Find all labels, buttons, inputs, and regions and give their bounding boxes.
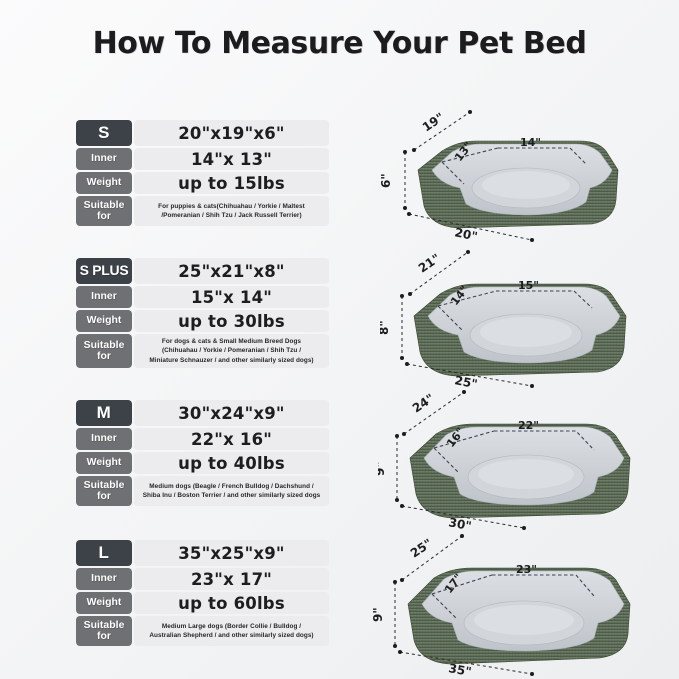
suitable-for-value: For dogs & cats & Small Medium Breed Dog… xyxy=(134,334,329,368)
table-row-inner: Inner 22"x 16" xyxy=(76,428,329,450)
suitable-line: For puppies & cats(Chihuahau / Yorkie / … xyxy=(158,203,305,210)
size-dimensions-value: 30"x24"x9" xyxy=(134,400,329,426)
page-title: How To Measure Your Pet Bed xyxy=(0,26,679,61)
outer-height-label: 6" xyxy=(380,173,393,188)
bed-cushion-highlight xyxy=(482,171,570,199)
outer-depth-label: 21" xyxy=(416,251,443,275)
inner-label: Inner xyxy=(76,286,132,308)
bed-drawing: 14" 15" 21" 8" 25" xyxy=(380,238,670,388)
weight-value: up to 40lbs xyxy=(134,452,329,474)
suitable-for-value: Medium dogs (Beagle / French Bulldog / D… xyxy=(134,476,329,506)
suitable-line: Miniature Schnauzer / and other similarl… xyxy=(149,357,313,364)
bed-illustration-s: 13" 14" 19" 6" 20" xyxy=(380,96,670,246)
table-row-inner: Inner 14"x 13" xyxy=(76,148,329,170)
inner-label: Inner xyxy=(76,568,132,590)
size-table-s: S 20"x19"x6" Inner 14"x 13" Weight up to… xyxy=(76,120,329,228)
size-dimensions-value: 35"x25"x9" xyxy=(134,540,329,566)
weight-label: Weight xyxy=(76,172,132,194)
table-row-weight: Weight up to 60lbs xyxy=(76,592,329,614)
table-row-inner: Inner 23"x 17" xyxy=(76,568,329,590)
suitable-line: Medium dogs (Beagle / French Bulldog / D… xyxy=(149,483,313,490)
dim-endpoint xyxy=(400,578,404,582)
outer-height-label: 9" xyxy=(378,461,387,476)
inner-width-label: 14" xyxy=(520,136,541,149)
size-name-label: L xyxy=(76,540,132,566)
inner-label: Inner xyxy=(76,428,132,450)
bed-illustration-l: 17" 23" 25" 9" 35" xyxy=(372,522,672,677)
dim-endpoint xyxy=(530,672,534,676)
dim-endpoint xyxy=(466,250,470,254)
bed-cushion-highlight xyxy=(474,605,574,635)
weight-label: Weight xyxy=(76,310,132,332)
table-row-weight: Weight up to 30lbs xyxy=(76,310,329,332)
suitable-line: Shiba Inu / Boston Terrier / and other s… xyxy=(143,492,321,499)
suitable-line: For dogs & cats & Small Medium Breed Dog… xyxy=(162,338,301,345)
dim-endpoint xyxy=(400,294,404,298)
dim-endpoint xyxy=(393,580,397,584)
size-dimensions-value: 25"x21"x8" xyxy=(134,258,329,284)
inner-width-label: 22" xyxy=(518,419,539,432)
bed-cushion-highlight xyxy=(480,317,572,347)
table-row-weight: Weight up to 15lbs xyxy=(76,172,329,194)
weight-value: up to 30lbs xyxy=(134,310,329,332)
outer-height-label: 9" xyxy=(372,607,385,622)
table-row-header: M 30"x24"x9" xyxy=(76,400,329,426)
table-row-header: S PLUS 25"x21"x8" xyxy=(76,258,329,284)
bed-illustration-s-plus: 14" 15" 21" 8" 25" xyxy=(380,238,670,388)
size-table-s-plus: S PLUS 25"x21"x8" Inner 15"x 14" Weight … xyxy=(76,258,329,370)
suitable-for-label: Suitable for xyxy=(76,334,132,368)
table-row-suitable: Suitable for For dogs & cats & Small Med… xyxy=(76,334,329,368)
dim-endpoint xyxy=(403,150,407,154)
inner-width-label: 23" xyxy=(516,563,537,576)
dim-endpoint xyxy=(412,148,416,152)
outer-height-label: 8" xyxy=(380,320,391,335)
size-table-m: M 30"x24"x9" Inner 22"x 16" Weight up to… xyxy=(76,400,329,508)
weight-value: up to 60lbs xyxy=(134,592,329,614)
weight-value: up to 15lbs xyxy=(134,172,329,194)
dim-endpoint xyxy=(395,498,399,502)
table-row-inner: Inner 15"x 14" xyxy=(76,286,329,308)
suitable-for-label: Suitable for xyxy=(76,196,132,226)
outer-depth-label: 24" xyxy=(410,391,437,415)
bed-drawing: 16" 22" 24" 9" 30" xyxy=(378,378,673,533)
suitable-for-value: Medium Large dogs (Border Collie / Bulld… xyxy=(134,616,329,646)
dim-endpoint xyxy=(400,504,404,508)
suitable-for-value: For puppies & cats(Chihuahau / Yorkie / … xyxy=(134,196,329,226)
table-row-header: L 35"x25"x9" xyxy=(76,540,329,566)
bed-illustration-m: 16" 22" 24" 9" 30" xyxy=(378,378,673,533)
size-name-label: S PLUS xyxy=(76,258,132,284)
table-row-suitable: Suitable for Medium dogs (Beagle / Frenc… xyxy=(76,476,329,506)
size-dimensions-value: 20"x19"x6" xyxy=(134,120,329,146)
dim-endpoint xyxy=(407,212,411,216)
bed-drawing: 13" 14" 19" 6" 20" xyxy=(380,96,670,246)
table-row-weight: Weight up to 40lbs xyxy=(76,452,329,474)
dim-endpoint xyxy=(460,534,464,538)
inner-label: Inner xyxy=(76,148,132,170)
suitable-line: Australian Shepherd / and other similarl… xyxy=(149,632,313,639)
inner-width-label: 15" xyxy=(518,279,539,292)
outer-depth-label: 19" xyxy=(420,110,447,134)
weight-label: Weight xyxy=(76,452,132,474)
weight-label: Weight xyxy=(76,592,132,614)
infographic-page: How To Measure Your Pet Bed S 20"x19"x6"… xyxy=(0,0,679,679)
suitable-for-label: Suitable for xyxy=(76,476,132,506)
table-row-suitable: Suitable for For puppies & cats(Chihuaha… xyxy=(76,196,329,226)
suitable-line: /Pomeranian / Shih Tzu / Jack Russell Te… xyxy=(161,212,301,219)
bed-drawing: 17" 23" 25" 9" 35" xyxy=(372,522,672,677)
outer-depth-label: 25" xyxy=(408,536,435,560)
dim-endpoint xyxy=(400,356,404,360)
suitable-for-label: Suitable for xyxy=(76,616,132,646)
inner-value: 22"x 16" xyxy=(134,428,329,450)
outer-width-label: 35" xyxy=(447,661,472,677)
size-name-label: S xyxy=(76,120,132,146)
inner-value: 15"x 14" xyxy=(134,286,329,308)
suitable-line: (Chihuahau / Yorkie / Pomeranian / Shih … xyxy=(162,347,301,354)
inner-value: 23"x 17" xyxy=(134,568,329,590)
dim-endpoint xyxy=(468,110,472,114)
dim-endpoint xyxy=(393,644,397,648)
bed-cushion-highlight xyxy=(478,459,574,489)
dim-endpoint xyxy=(408,292,412,296)
table-row-header: S 20"x19"x6" xyxy=(76,120,329,146)
suitable-line: Medium Large dogs (Border Collie / Bulld… xyxy=(162,623,301,630)
dim-endpoint xyxy=(462,390,466,394)
dim-endpoint xyxy=(403,206,407,210)
dim-endpoint xyxy=(402,432,406,436)
table-row-suitable: Suitable for Medium Large dogs (Border C… xyxy=(76,616,329,646)
dim-endpoint xyxy=(405,362,409,366)
dim-endpoint xyxy=(395,434,399,438)
inner-value: 14"x 13" xyxy=(134,148,329,170)
size-table-l: L 35"x25"x9" Inner 23"x 17" Weight up to… xyxy=(76,540,329,648)
size-name-label: M xyxy=(76,400,132,426)
dim-endpoint xyxy=(398,650,402,654)
